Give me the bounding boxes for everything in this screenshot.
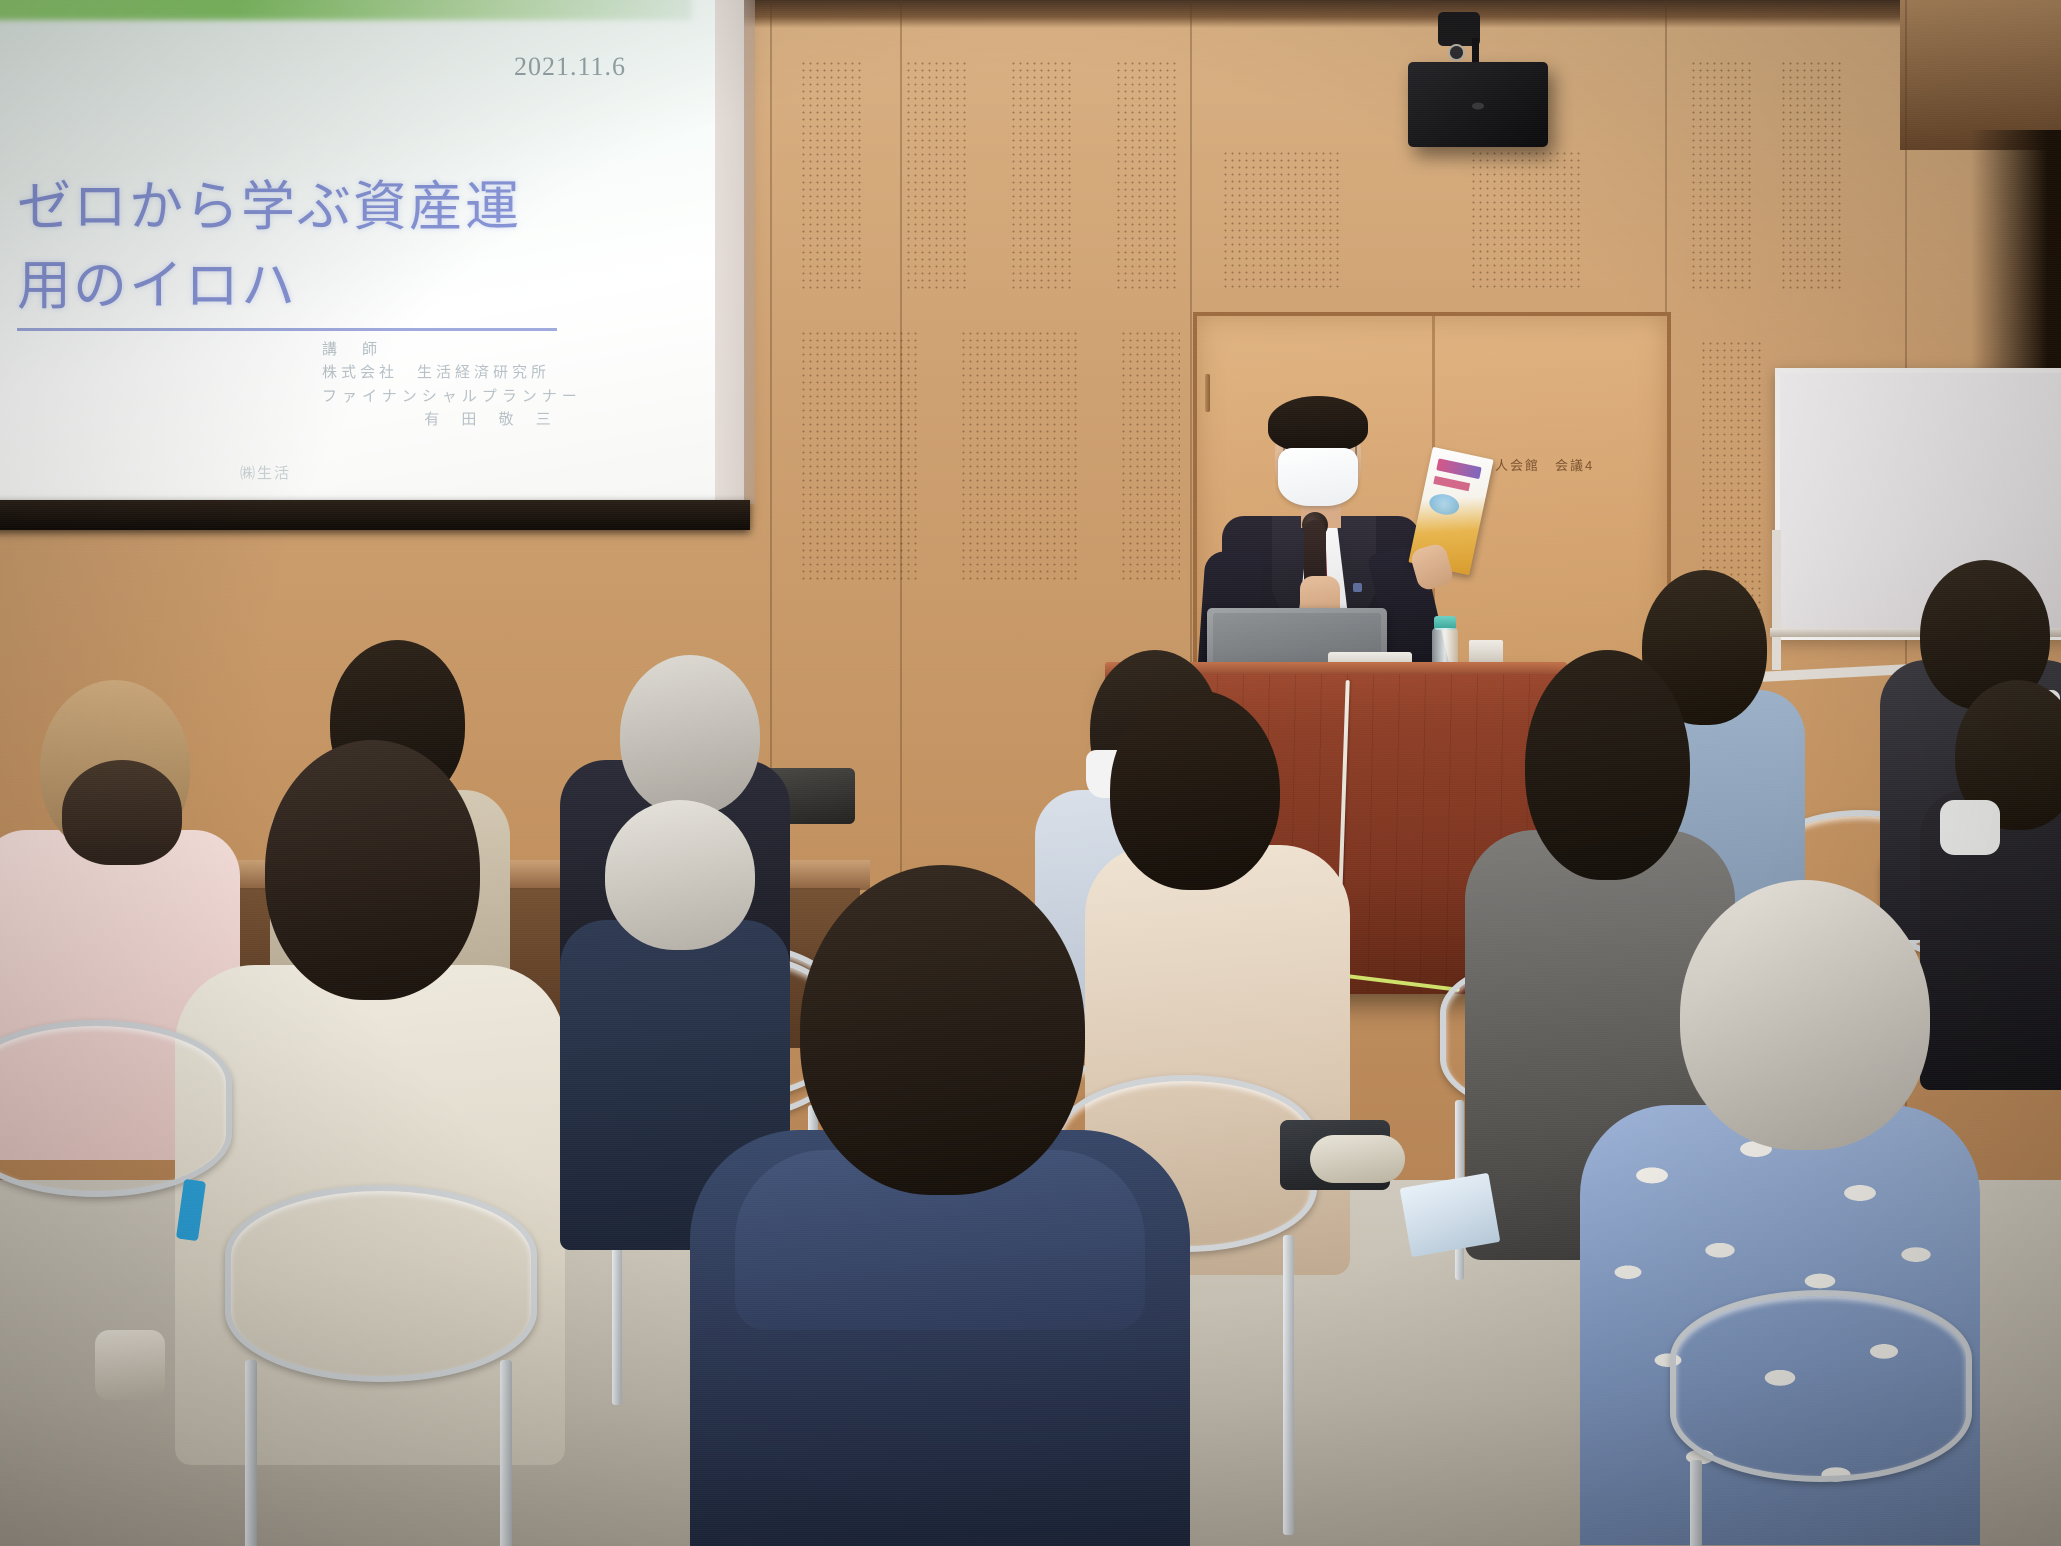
brochure-band (1433, 476, 1470, 491)
acoustic-panel (800, 330, 920, 580)
seminar-room-photo: 婦人会館 会議4 2021.11.6 ゼロから学ぶ資産運用のイロハ 講 師 株式… (0, 0, 2061, 1546)
ceiling-corner (1900, 0, 2061, 150)
screen-right-edge (715, 0, 755, 504)
acoustic-panel (1120, 330, 1180, 580)
acoustic-panel (1222, 150, 1342, 290)
slide-title: ゼロから学ぶ資産運用のイロハ (17, 162, 557, 331)
presenter-lapel-pin (1353, 583, 1362, 592)
slide-footnote: ㈱生活 (240, 462, 291, 483)
shoe (95, 1330, 165, 1400)
acoustic-panel (905, 60, 967, 290)
presenter-hair (1268, 396, 1368, 452)
projection-screen: 2021.11.6 ゼロから学ぶ資産運用のイロハ 講 師 株式会社 生活経済研究… (0, 0, 744, 506)
face-mask-icon (1278, 448, 1358, 506)
slide-date: 2021.11.6 (514, 52, 626, 82)
shoe (1310, 1135, 1405, 1183)
door-hinge (1205, 374, 1210, 412)
speaker-driver (1472, 103, 1484, 110)
presenter-role: 講 師 (322, 338, 582, 361)
screen-bottom-bar (0, 500, 750, 530)
whiteboard-leg (1772, 530, 1781, 670)
brochure-band (1436, 458, 1482, 479)
speaker-mount-knob (1448, 44, 1465, 61)
acoustic-panel (1690, 60, 1752, 290)
acoustic-panel (1470, 150, 1580, 290)
brochure-graphic (1427, 492, 1461, 518)
room-sign: 婦人会館 会議4 (1480, 455, 1594, 474)
acoustic-panel (1010, 60, 1072, 290)
presenter-company: 株式会社 生活経済研究所 (322, 361, 582, 384)
presenter-name: 有 田 敬 三 (322, 408, 582, 431)
acoustic-panel (800, 60, 862, 290)
acoustic-panel (1115, 60, 1177, 290)
wall-speaker-icon (1408, 62, 1548, 147)
acoustic-panel (960, 330, 1080, 580)
presenter-title: ファイナンシャルプランナー (322, 385, 582, 408)
slide-presenter-block: 講 師 株式会社 生活経済研究所 ファイナンシャルプランナー 有 田 敬 三 (322, 338, 582, 431)
slide-accent-bar (0, 0, 692, 20)
acoustic-panel (1780, 60, 1842, 290)
